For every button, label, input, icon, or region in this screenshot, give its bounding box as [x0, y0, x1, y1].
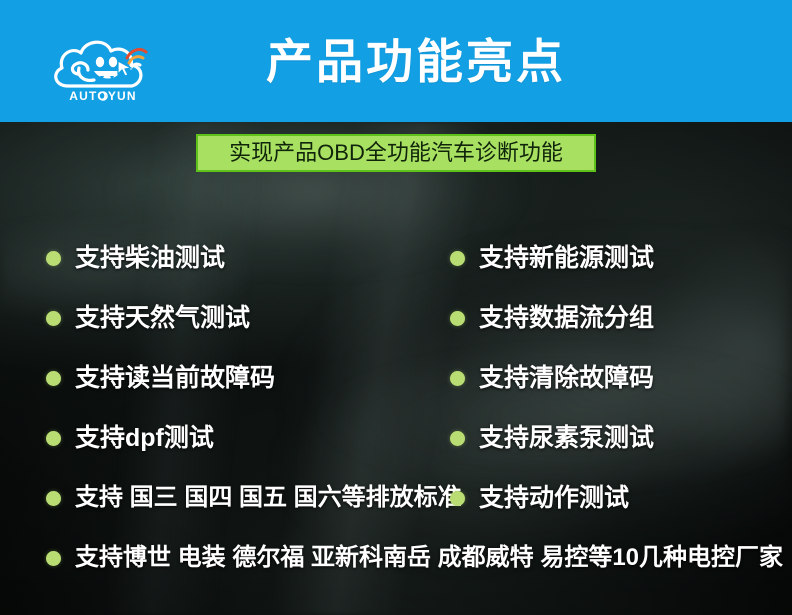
- section-banner: 实现产品OBD全功能汽车诊断功能: [196, 134, 596, 172]
- section-banner-label: 实现产品OBD全功能汽车诊断功能: [229, 142, 563, 164]
- list-item: 支持dpf测试: [46, 408, 476, 468]
- bullet-dot-icon: [46, 371, 61, 386]
- list-item: 支持尿素泵测试: [450, 408, 780, 468]
- slide-root: AUTOYUN 产品功能亮点 实现产品OBD全功能汽车诊断功能 支持柴油测试 支…: [0, 0, 792, 615]
- bullet-dot-icon: [46, 491, 61, 506]
- bullet-dot-icon: [450, 431, 465, 446]
- feature-label: 支持柴油测试: [75, 246, 225, 271]
- feature-list-full-width-row: 支持博世 电装 德尔福 亚新科南岳 成都威特 易控等10几种电控厂家: [46, 528, 783, 588]
- feature-label: 支持天然气测试: [75, 306, 250, 331]
- list-item: 支持 国三 国四 国五 国六等排放标准: [46, 468, 476, 528]
- bullet-dot-icon: [450, 251, 465, 266]
- feature-list-left: 支持柴油测试 支持天然气测试 支持读当前故障码 支持dpf测试 支持 国三 国四…: [46, 228, 476, 528]
- list-item: 支持数据流分组: [450, 288, 780, 348]
- bullet-dot-icon: [46, 251, 61, 266]
- list-item: 支持动作测试: [450, 468, 780, 528]
- bullet-dot-icon: [450, 311, 465, 326]
- feature-label: 支持数据流分组: [479, 306, 654, 331]
- list-item: 支持天然气测试: [46, 288, 476, 348]
- bullet-dot-icon: [450, 491, 465, 506]
- feature-list-right: 支持新能源测试 支持数据流分组 支持清除故障码 支持尿素泵测试 支持动作测试: [450, 228, 780, 528]
- feature-label: 支持读当前故障码: [75, 366, 275, 391]
- list-item: 支持清除故障码: [450, 348, 780, 408]
- page-title: 产品功能亮点: [0, 0, 792, 122]
- list-item: 支持新能源测试: [450, 228, 780, 288]
- bullet-dot-icon: [46, 311, 61, 326]
- bullet-dot-icon: [46, 431, 61, 446]
- feature-label: 支持尿素泵测试: [479, 426, 654, 451]
- feature-label: 支持新能源测试: [479, 246, 654, 271]
- feature-label: 支持清除故障码: [479, 366, 654, 391]
- list-item: 支持读当前故障码: [46, 348, 476, 408]
- list-item: 支持柴油测试: [46, 228, 476, 288]
- feature-label: 支持博世 电装 德尔福 亚新科南岳 成都威特 易控等10几种电控厂家: [75, 546, 783, 570]
- feature-label: 支持 国三 国四 国五 国六等排放标准: [75, 486, 462, 510]
- bullet-dot-icon: [46, 551, 61, 566]
- feature-label: 支持dpf测试: [75, 426, 214, 451]
- feature-label: 支持动作测试: [479, 486, 629, 511]
- page-header: AUTOYUN 产品功能亮点: [0, 0, 792, 122]
- bullet-dot-icon: [450, 371, 465, 386]
